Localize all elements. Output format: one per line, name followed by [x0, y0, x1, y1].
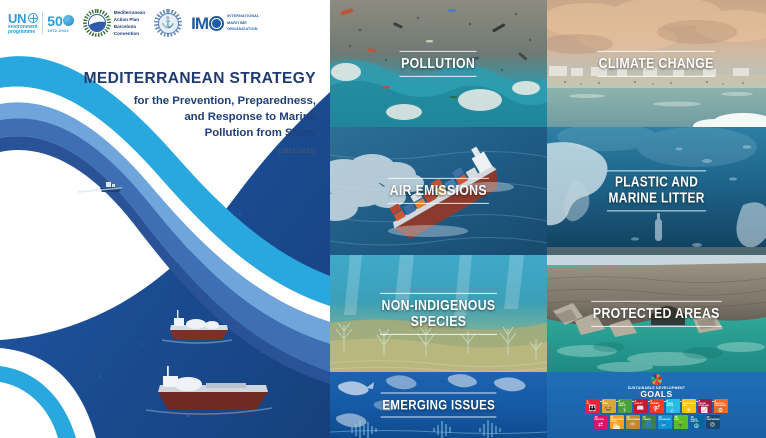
- tile-caption: AIR EMISSIONS: [330, 178, 547, 204]
- tile-caption: PLASTIC AND MARINE LITTER: [547, 170, 766, 211]
- sdg-goal-10[interactable]: 10REDUCED⇄: [594, 415, 608, 429]
- sdg-goal-label: CLIMATE: [643, 419, 655, 421]
- sdg-goal-icon: 🌀: [643, 422, 655, 428]
- unep-un-text: UN: [8, 12, 26, 25]
- sdg-goal-12[interactable]: 12RESPONSIBLE♾: [626, 415, 640, 429]
- sdg-goal-icon: ☀: [683, 408, 695, 413]
- sdg-goal-icon: 📈: [699, 408, 711, 413]
- sdg-goal-label: NO: [587, 403, 599, 405]
- tile-caption: POLLUTION: [330, 50, 547, 76]
- un-laurel-emblem-icon: ⚓: [154, 9, 182, 37]
- sdg-goal-icon: 🏙: [611, 424, 623, 429]
- sdg-goal-15[interactable]: 15LIFE🌳: [674, 415, 688, 429]
- sdg-goal-7[interactable]: 7AFFORDABLE AND☀: [682, 399, 696, 413]
- un-globe-glyph: ⚓: [161, 18, 175, 29]
- sdg-goal-icon: 📖: [635, 406, 647, 412]
- sdg-goal-label: LIFE BELOW: [659, 419, 671, 421]
- tile-plastic-marine-litter[interactable]: PLASTIC AND MARINE LITTER: [547, 127, 766, 255]
- sdg-goal-icon: ☮: [691, 424, 703, 429]
- sdg-goal-icon: ⚕: [619, 408, 631, 413]
- map-line2: Action Plan: [114, 16, 145, 23]
- laurel-wreath-wave-icon: [83, 9, 111, 37]
- sdg-goal-label: GENDER: [651, 403, 663, 405]
- sdg-goal-icon: ⚤: [651, 406, 663, 412]
- sdg-goal-11[interactable]: 11SUSTAINABLE CITIES🏙: [610, 415, 624, 429]
- cover-panel: UN environment programme 50 1972-2022: [0, 0, 330, 438]
- map-line4: Convention: [114, 30, 145, 37]
- caption-text-air-emissions: AIR EMISSIONS: [388, 178, 489, 204]
- logo-divider: [42, 12, 43, 34]
- tile-pollution[interactable]: POLLUTION: [330, 0, 547, 127]
- tile-air-emissions[interactable]: AIR EMISSIONS: [330, 127, 547, 255]
- caption-text-climate-change: CLIMATE CHANGE: [597, 50, 715, 76]
- strategy-cover-page: UN environment programme 50 1972-2022: [0, 0, 766, 438]
- sdg-goal-label: INDUSTRY, INNOVATION: [715, 403, 727, 407]
- sdg-goal-label: PARTNERSHIPS: [707, 419, 719, 421]
- sdg-goal-2[interactable]: 2ZERO🍲: [602, 399, 616, 413]
- caption-text-protected-areas: PROTECTED AREAS: [591, 300, 721, 326]
- subtitle-line-2: and Response to Marine: [76, 109, 316, 125]
- sdg-goal-5[interactable]: 5GENDER⚤: [650, 399, 664, 413]
- sdg-goal-icon: 💧: [667, 408, 679, 413]
- sdg-goal-icon: 🌳: [675, 422, 687, 428]
- sdg-goal-row: 10REDUCED⇄11SUSTAINABLE CITIES🏙12RESPONS…: [594, 415, 720, 429]
- sdg-goal-icon: 🍲: [603, 406, 615, 412]
- sdg-goal-row: 1NO👪2ZERO🍲3GOOD HEALTH⚕4QUALITY📖5GENDER⚤…: [586, 399, 728, 413]
- organization-logos: UN environment programme 50 1972-2022: [8, 6, 324, 40]
- sdg-goal-grid: 1NO👪2ZERO🍲3GOOD HEALTH⚕4QUALITY📖5GENDER⚤…: [547, 399, 766, 429]
- map-line3: Barcelona: [114, 23, 145, 30]
- tile-caption: PROTECTED AREAS: [547, 300, 766, 326]
- sdg-goal-3[interactable]: 3GOOD HEALTH⚕: [618, 399, 632, 413]
- unep-anniversary-number: 50: [47, 14, 63, 28]
- sdg-goal-icon: ⇄: [595, 422, 607, 428]
- sdg-goal-icon: 👪: [587, 406, 599, 412]
- sdg-goal-16[interactable]: 16PEACE, JUSTICE☮: [690, 415, 704, 429]
- globe-icon: [28, 13, 38, 23]
- imo-word3: ORGANIZATION: [227, 26, 259, 33]
- sdg-goal-8[interactable]: 8DECENT WORK AND📈: [698, 399, 712, 413]
- sdg-goal-label: AFFORDABLE AND: [683, 403, 695, 407]
- subtitle-line-3: Pollution from Ships: [76, 125, 316, 141]
- sdg-goal-label: REDUCED: [595, 419, 607, 421]
- sdg-goal-1[interactable]: 1NO👪: [586, 399, 600, 413]
- tile-caption: EMERGING ISSUES: [330, 392, 547, 417]
- sdg-color-wheel-icon: [651, 374, 662, 385]
- map-line1: Mediterranean: [114, 9, 145, 16]
- caption-text-pollution: POLLUTION: [400, 50, 477, 76]
- caption-text-non-indigenous-species: NON-INDIGENOUS SPECIES: [380, 292, 497, 334]
- sdg-goal-icon: ⚙: [715, 408, 727, 413]
- imo-word1: INTERNATIONAL: [227, 13, 259, 20]
- imo-word2: MARITIME: [227, 20, 259, 27]
- sdg-goal-4[interactable]: 4QUALITY📖: [634, 399, 648, 413]
- unep-anniversary-years: 1972-2022: [47, 28, 69, 33]
- theme-image-grid: POLLUTION: [330, 0, 766, 438]
- mediterranean-action-plan-logo: Mediterranean Action Plan Barcelona Conv…: [83, 9, 145, 37]
- sdg-goal-label: CLEAN WATER: [667, 403, 679, 407]
- page-title: MEDITERRANEAN STRATEGY: [76, 70, 316, 88]
- sdg-goal-13[interactable]: 13CLIMATE🌀: [642, 415, 656, 429]
- anniversary-dot-icon: [63, 15, 74, 26]
- sdg-goal-label: PEACE, JUSTICE: [691, 419, 703, 423]
- sdg-goal-icon: ◎: [707, 422, 719, 428]
- tile-caption: CLIMATE CHANGE: [547, 50, 766, 76]
- caption-text-emerging-issues: EMERGING ISSUES: [380, 392, 496, 417]
- sdg-header: SUSTAINABLE DEVELOPMENT GOALS: [547, 374, 766, 402]
- cover-wave-artwork: [0, 0, 330, 438]
- sdg-header-main: GOALS: [640, 390, 672, 399]
- sdg-goal-label: ZERO: [603, 403, 615, 405]
- caption-text-plastic-marine-litter: PLASTIC AND MARINE LITTER: [607, 170, 706, 211]
- tile-protected-areas[interactable]: PROTECTED AREAS: [547, 255, 766, 372]
- sdg-goal-label: QUALITY: [635, 403, 647, 405]
- unep-programme-label: programme: [8, 30, 38, 35]
- imo-letters: IM: [191, 15, 208, 32]
- sdg-goal-label: DECENT WORK AND: [699, 403, 711, 407]
- cover-title-block: MEDITERRANEAN STRATEGY for the Preventio…: [76, 70, 316, 155]
- sdg-goal-icon: 🐟: [659, 422, 671, 428]
- imo-o-icon: [209, 16, 224, 31]
- sdg-goal-icon: ♾: [627, 422, 639, 428]
- tile-caption: NON-INDIGENOUS SPECIES: [330, 292, 547, 334]
- sdg-goal-14[interactable]: 14LIFE BELOW🐟: [658, 415, 672, 429]
- sdg-goal-label: RESPONSIBLE: [627, 419, 639, 421]
- tile-non-indigenous-species[interactable]: NON-INDIGENOUS SPECIES: [330, 255, 547, 372]
- sdg-goal-label: LIFE: [675, 419, 687, 421]
- subtitle-line-1: for the Prevention, Preparedness,: [76, 93, 316, 109]
- sdg-goal-6[interactable]: 6CLEAN WATER💧: [666, 399, 680, 413]
- unep-logo: UN environment programme 50 1972-2022: [8, 12, 74, 35]
- sdg-goal-label: GOOD HEALTH: [619, 403, 631, 407]
- tile-emerging-issues[interactable]: EMERGING ISSUES: [330, 372, 547, 438]
- title-year-range: (2022-2031): [76, 148, 316, 155]
- sdg-goal-17[interactable]: 17PARTNERSHIPS◎: [706, 415, 720, 429]
- imo-logo: IM INTERNATIONAL MARITIME ORGANIZATION: [191, 13, 259, 33]
- sdg-goal-label: SUSTAINABLE CITIES: [611, 419, 623, 423]
- tile-climate-change[interactable]: CLIMATE CHANGE: [547, 0, 766, 127]
- tile-sustainable-development-goals[interactable]: SUSTAINABLE DEVELOPMENT GOALS 1NO👪2ZERO🍲…: [547, 372, 766, 438]
- sdg-goal-9[interactable]: 9INDUSTRY, INNOVATION⚙: [714, 399, 728, 413]
